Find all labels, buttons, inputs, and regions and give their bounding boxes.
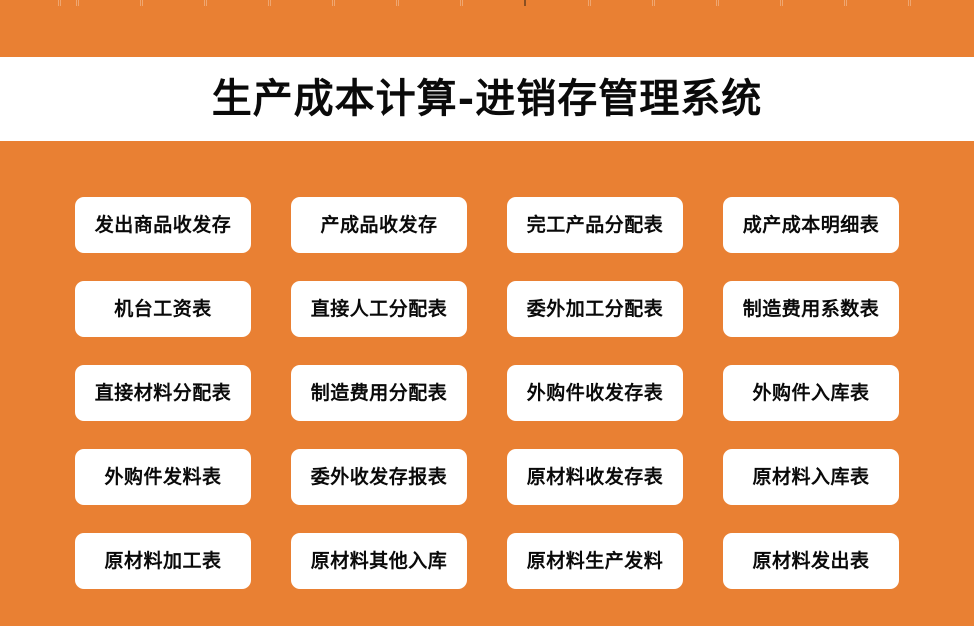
report-button-label: 发出商品收发存 bbox=[95, 216, 232, 235]
button-row: 机台工资表 直接人工分配表 委外加工分配表 制造费用系数表 bbox=[75, 281, 899, 337]
report-button-label: 原材料发出表 bbox=[752, 552, 869, 571]
report-button-label: 原材料入库表 bbox=[752, 468, 869, 487]
report-button-yuancailiao-shengchan-faliao[interactable]: 原材料生产发料 bbox=[507, 533, 683, 589]
report-button-yuancailiao-fachubiao[interactable]: 原材料发出表 bbox=[723, 533, 899, 589]
report-button-weiwai-shoufacun-baobiao[interactable]: 委外收发存报表 bbox=[291, 449, 467, 505]
report-button-label: 原材料生产发料 bbox=[527, 552, 664, 571]
report-button-label: 成产成本明细表 bbox=[743, 216, 880, 235]
report-button-yuancailiao-shoufacunbiao[interactable]: 原材料收发存表 bbox=[507, 449, 683, 505]
button-row: 外购件发料表 委外收发存报表 原材料收发存表 原材料入库表 bbox=[75, 449, 899, 505]
report-button-label: 外购件收发存表 bbox=[527, 384, 664, 403]
report-button-yuancailiao-rukubiao[interactable]: 原材料入库表 bbox=[723, 449, 899, 505]
report-button-label: 制造费用分配表 bbox=[311, 384, 448, 403]
report-button-label: 原材料其他入库 bbox=[311, 552, 448, 571]
report-button-label: 外购件发料表 bbox=[104, 468, 221, 487]
report-button-zhijie-rengong-fenpeibiao[interactable]: 直接人工分配表 bbox=[291, 281, 467, 337]
top-ruler-artifact bbox=[0, 0, 974, 6]
report-button-label: 原材料收发存表 bbox=[527, 468, 664, 487]
report-button-yuancailiao-qita-ruku[interactable]: 原材料其他入库 bbox=[291, 533, 467, 589]
report-button-label: 完工产品分配表 bbox=[527, 216, 664, 235]
report-button-fachu-shangpin-shoufacun[interactable]: 发出商品收发存 bbox=[75, 197, 251, 253]
title-banner: 生产成本计算-进销存管理系统 bbox=[0, 57, 974, 141]
report-button-yuancailiao-jiagongbiao[interactable]: 原材料加工表 bbox=[75, 533, 251, 589]
button-row: 发出商品收发存 产成品收发存 完工产品分配表 成产成本明细表 bbox=[75, 197, 899, 253]
report-button-jitai-gongzibiao[interactable]: 机台工资表 bbox=[75, 281, 251, 337]
report-button-label: 直接材料分配表 bbox=[95, 384, 232, 403]
report-button-label: 外购件入库表 bbox=[752, 384, 869, 403]
page-title: 生产成本计算-进销存管理系统 bbox=[212, 79, 763, 119]
button-row: 直接材料分配表 制造费用分配表 外购件收发存表 外购件入库表 bbox=[75, 365, 899, 421]
report-button-chengchan-chengben-mingxibiao[interactable]: 成产成本明细表 bbox=[723, 197, 899, 253]
button-row: 原材料加工表 原材料其他入库 原材料生产发料 原材料发出表 bbox=[75, 533, 899, 589]
report-button-wangong-chanpin-fenpeibiao[interactable]: 完工产品分配表 bbox=[507, 197, 683, 253]
application-window: 生产成本计算-进销存管理系统 发出商品收发存 产成品收发存 完工产品分配表 成产… bbox=[0, 0, 974, 626]
report-button-grid: 发出商品收发存 产成品收发存 完工产品分配表 成产成本明细表 机台工资表 直接人… bbox=[75, 197, 899, 589]
report-button-waigoujian-faliaobiao[interactable]: 外购件发料表 bbox=[75, 449, 251, 505]
report-button-label: 直接人工分配表 bbox=[311, 300, 448, 319]
report-button-weiwai-jiagong-fenpeibiao[interactable]: 委外加工分配表 bbox=[507, 281, 683, 337]
report-button-zhijie-cailiao-fenpeibiao[interactable]: 直接材料分配表 bbox=[75, 365, 251, 421]
report-button-waigoujian-rukubiao[interactable]: 外购件入库表 bbox=[723, 365, 899, 421]
report-button-zhizao-feiyong-xishubiao[interactable]: 制造费用系数表 bbox=[723, 281, 899, 337]
report-button-label: 委外收发存报表 bbox=[311, 468, 448, 487]
report-button-label: 原材料加工表 bbox=[104, 552, 221, 571]
report-button-label: 机台工资表 bbox=[114, 300, 212, 319]
report-button-label: 委外加工分配表 bbox=[527, 300, 664, 319]
report-button-zhizao-feiyong-fenpeibiao[interactable]: 制造费用分配表 bbox=[291, 365, 467, 421]
report-button-label: 制造费用系数表 bbox=[743, 300, 880, 319]
report-button-chanchengpin-shoufacun[interactable]: 产成品收发存 bbox=[291, 197, 467, 253]
report-button-label: 产成品收发存 bbox=[320, 216, 437, 235]
report-button-waigoujian-shoufacunbiao[interactable]: 外购件收发存表 bbox=[507, 365, 683, 421]
